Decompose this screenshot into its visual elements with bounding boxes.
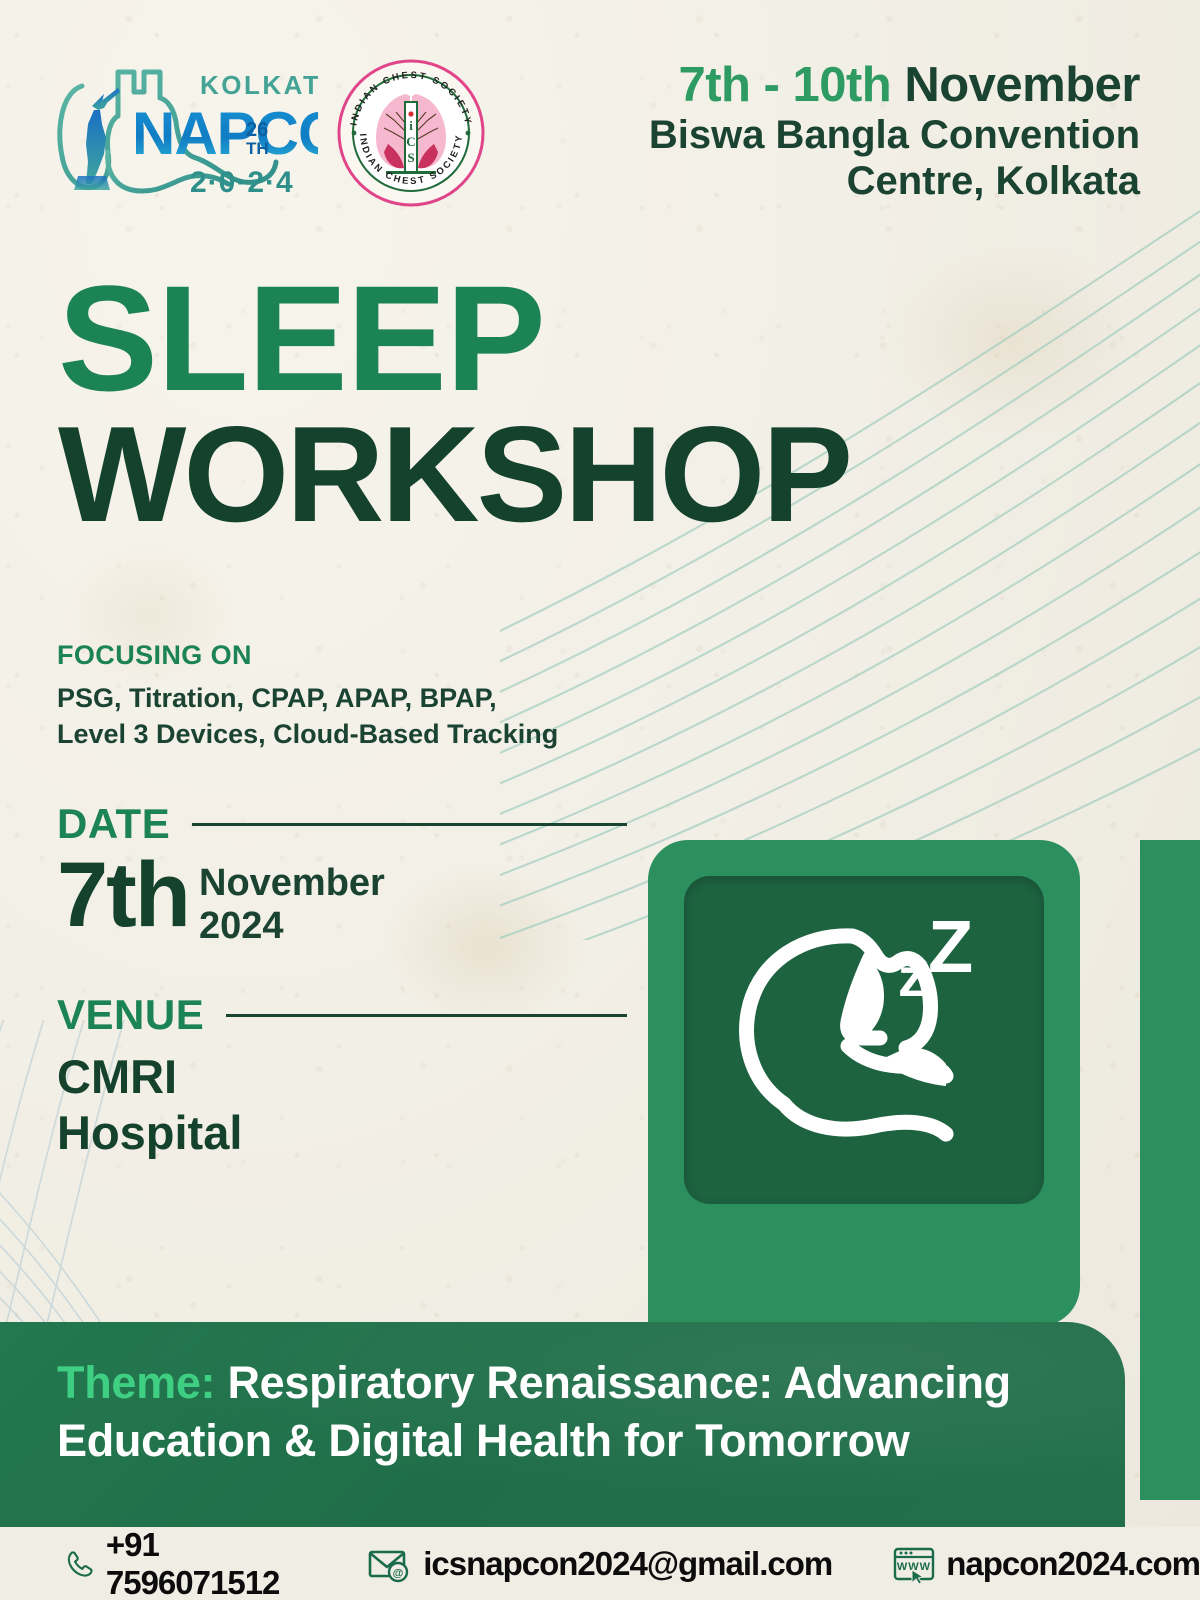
- date-rule-divider: [192, 823, 627, 826]
- venue-line2: Hospital: [57, 1105, 627, 1161]
- page-title: SLEEP WORKSHOP: [58, 272, 850, 537]
- date-label: DATE: [57, 800, 170, 848]
- focusing-on-line1: PSG, Titration, CPAP, APAP, BPAP,: [57, 680, 558, 716]
- sleep-z-small: z: [898, 948, 925, 1008]
- email-address: icsnapcon2024@gmail.com: [423, 1545, 832, 1583]
- header-venue-line2: Centre, Kolkata: [649, 161, 1140, 203]
- right-accent-strip: [1140, 840, 1200, 1500]
- poster-root: KOLKATA NAPCON 26 TH 2·0·2·4: [0, 0, 1200, 1600]
- napcon-logo: KOLKATA NAPCON 26 TH 2·0·2·4: [48, 58, 318, 208]
- venue-value: CMRI Hospital: [57, 1049, 627, 1162]
- indian-chest-society-logo: i C S INDIAN CHEST SOCIETY INDIAN CHEST …: [336, 58, 486, 208]
- focusing-on-topics: PSG, Titration, CPAP, APAP, BPAP, Level …: [57, 680, 558, 753]
- focusing-on-line2: Level 3 Devices, Cloud-Based Tracking: [57, 716, 558, 752]
- napcon-logo-city: KOLKATA: [200, 70, 318, 100]
- poster-header: KOLKATA NAPCON 26 TH 2·0·2·4: [0, 0, 1200, 245]
- logo-group: KOLKATA NAPCON 26 TH 2·0·2·4: [48, 58, 486, 208]
- title-line-sleep: SLEEP: [58, 272, 850, 404]
- date-heading-row: DATE: [57, 800, 627, 848]
- napcon-logo-icon: KOLKATA NAPCON 26 TH 2·0·2·4: [48, 58, 318, 208]
- svg-text:S: S: [407, 150, 414, 165]
- header-date-line: 7th - 10th November: [649, 60, 1140, 111]
- ics-logo-icon: i C S INDIAN CHEST SOCIETY INDIAN CHEST …: [336, 58, 486, 208]
- phone-number: +91 7596071512: [106, 1526, 297, 1600]
- edition-suffix: TH: [246, 139, 269, 158]
- date-month-year: November 2024: [199, 862, 385, 947]
- edition-number: 26: [246, 119, 268, 141]
- sleeping-face-icon: z Z: [684, 876, 1044, 1204]
- email-icon: @: [365, 1542, 415, 1586]
- website-icon: WWW: [890, 1542, 938, 1586]
- website-url: napcon2024.com: [946, 1545, 1200, 1583]
- date-month: November: [199, 862, 385, 905]
- theme-text: Theme: Respiratory Renaissance: Advancin…: [57, 1354, 1077, 1469]
- focusing-on-label: FOCUSING ON: [57, 640, 558, 671]
- venue-rule-divider: [226, 1014, 627, 1017]
- title-line-workshop: WORKSHOP: [58, 412, 850, 537]
- contact-phone[interactable]: +91 7596071512: [62, 1526, 297, 1600]
- date-day: 7th: [57, 850, 189, 940]
- sleep-icon-panel: z Z: [648, 840, 1080, 1240]
- svg-text:@: @: [393, 1567, 404, 1579]
- venue-line1: CMRI: [57, 1049, 627, 1105]
- svg-text:i: i: [409, 118, 413, 133]
- contact-footer: +91 7596071512 @ icsnapcon2024@gmail.com…: [0, 1527, 1200, 1600]
- svg-text:C: C: [406, 134, 415, 149]
- header-date-venue: 7th - 10th November Biswa Bangla Convent…: [649, 60, 1140, 202]
- date-value-row: 7th November 2024: [57, 850, 627, 947]
- venue-heading-row: VENUE: [57, 991, 627, 1039]
- contact-website[interactable]: WWW napcon2024.com: [890, 1542, 1200, 1586]
- sleep-icon-inner-panel: z Z: [684, 876, 1044, 1204]
- header-date-month: November: [904, 58, 1140, 112]
- header-date-range: 7th - 10th: [678, 58, 891, 112]
- header-venue-line1: Biswa Bangla Convention: [649, 115, 1140, 157]
- theme-line2: Education & Digital Health for Tomorrow: [57, 1412, 1077, 1470]
- contact-email[interactable]: @ icsnapcon2024@gmail.com: [365, 1542, 832, 1586]
- napcon-logo-name: NAPCON: [132, 100, 318, 167]
- theme-line1: Respiratory Renaissance: Advancing: [227, 1357, 1010, 1408]
- theme-keyword: Theme:: [57, 1357, 215, 1408]
- venue-section: VENUE CMRI Hospital: [57, 991, 627, 1162]
- focusing-on-section: FOCUSING ON PSG, Titration, CPAP, APAP, …: [57, 640, 558, 753]
- phone-icon: [62, 1542, 98, 1586]
- date-year: 2024: [199, 905, 385, 948]
- napcon-logo-edition-badge: 26 TH: [246, 119, 269, 158]
- theme-banner: Theme: Respiratory Renaissance: Advancin…: [0, 1322, 1125, 1527]
- napcon-logo-year: 2·0·2·4: [190, 166, 294, 199]
- sleep-z-large: Z: [928, 905, 973, 988]
- paper-stain: [880, 240, 1140, 440]
- date-venue-section: DATE 7th November 2024 VENUE CMRI Hospit…: [57, 800, 627, 1162]
- venue-label: VENUE: [57, 991, 204, 1039]
